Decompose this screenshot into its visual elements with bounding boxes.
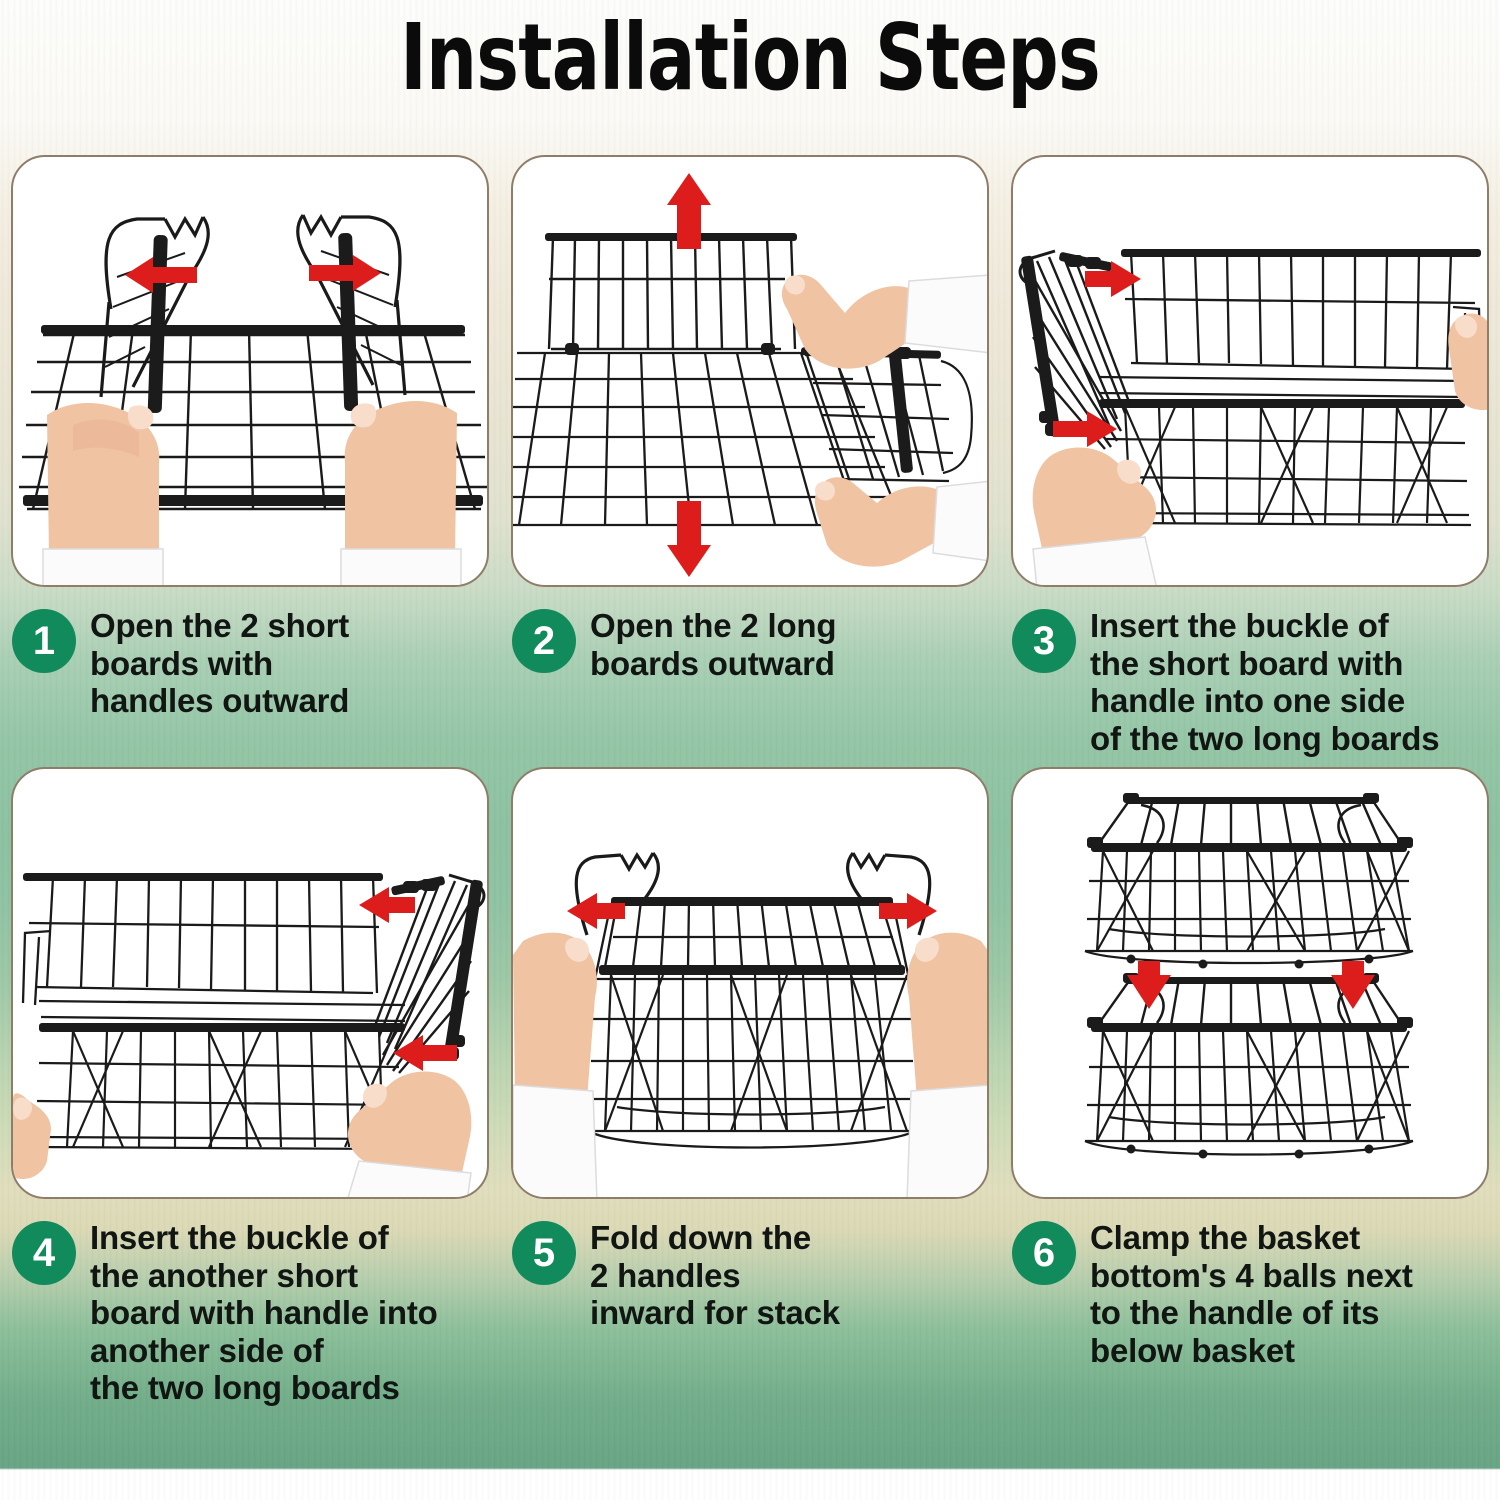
left-hand [513, 933, 597, 1199]
upper-right-hand [782, 275, 989, 369]
step-cell-3 [1000, 155, 1500, 587]
step-cell-1 [0, 155, 500, 587]
left-hand [43, 403, 163, 587]
page-title: Installation Steps [165, 6, 1335, 109]
step-2-text: Open the 2 long boards outward [590, 605, 836, 682]
step-2-caption: 2 Open the 2 long boards outward [500, 587, 1000, 767]
step-3-badge: 3 [1012, 609, 1076, 673]
lower-right-hand [347, 1071, 471, 1199]
installation-steps-poster: Installation Steps [0, 0, 1500, 1500]
captions-row-bottom: 4 Insert the buckle of the another short… [0, 1199, 1500, 1414]
step-4-badge: 4 [12, 1221, 76, 1285]
step-5-illustration [511, 767, 989, 1199]
right-hand [907, 933, 989, 1199]
caption-cell-5: 5 Fold down the 2 handles inward for sta… [500, 1199, 1000, 1414]
step-1-text: Open the 2 short boards with handles out… [90, 605, 349, 720]
step-cell-2 [500, 155, 1000, 587]
step-cell-6 [1000, 767, 1500, 1199]
step-6-text: Clamp the basket bottom's 4 balls next t… [1090, 1217, 1413, 1369]
panels-row-bottom [0, 767, 1500, 1199]
lower-left-hand [1033, 447, 1157, 587]
step-3-illustration [1011, 155, 1489, 587]
step-5-assembled-basket-drawing [513, 769, 989, 1199]
step-5-text: Fold down the 2 handles inward for stack [590, 1217, 840, 1332]
step-6-stacked-baskets-drawing [1013, 769, 1489, 1199]
right-hand [341, 401, 461, 587]
step-1-wire-basket-drawing [13, 157, 489, 587]
caption-cell-4: 4 Insert the buckle of the another short… [0, 1199, 500, 1414]
lower-right-hand [815, 477, 989, 566]
step-3-text: Insert the buckle of the short board wit… [1090, 605, 1439, 757]
upper-basket [1085, 793, 1413, 969]
step-4-text: Insert the buckle of the another short b… [90, 1217, 438, 1407]
step-6-badge: 6 [1012, 1221, 1076, 1285]
right-hand-fingers [1448, 314, 1489, 411]
left-hand-fingers [13, 1093, 51, 1179]
lower-basket [1085, 973, 1413, 1159]
steps-grid: 1 Open the 2 short boards with handles o… [0, 155, 1500, 1414]
arrow-down-icon [667, 501, 711, 577]
step-5-badge: 5 [512, 1221, 576, 1285]
step-cell-5 [500, 767, 1000, 1199]
step-2-wire-grid-drawing [513, 157, 989, 587]
step-1-illustration [11, 155, 489, 587]
caption-cell-2: 2 Open the 2 long boards outward [500, 587, 1000, 767]
step-4-wire-assembly-drawing [13, 769, 489, 1199]
caption-cell-3: 3 Insert the buckle of the short board w… [1000, 587, 1500, 767]
step-2-illustration [511, 155, 989, 587]
step-6-illustration [1011, 767, 1489, 1199]
caption-cell-6: 6 Clamp the basket bottom's 4 balls next… [1000, 1199, 1500, 1414]
step-4-illustration [11, 767, 489, 1199]
step-3-wire-assembly-drawing [1013, 157, 1489, 587]
captions-row-top: 1 Open the 2 short boards with handles o… [0, 587, 1500, 767]
caption-cell-1: 1 Open the 2 short boards with handles o… [0, 587, 500, 767]
step-5-caption: 5 Fold down the 2 handles inward for sta… [500, 1199, 1000, 1414]
step-3-caption: 3 Insert the buckle of the short board w… [1000, 587, 1500, 767]
step-6-caption: 6 Clamp the basket bottom's 4 balls next… [1000, 1199, 1500, 1414]
step-1-caption: 1 Open the 2 short boards with handles o… [0, 587, 500, 767]
step-cell-4 [0, 767, 500, 1199]
step-1-badge: 1 [12, 609, 76, 673]
panels-row-top [0, 155, 1500, 587]
step-4-caption: 4 Insert the buckle of the another short… [0, 1199, 500, 1414]
step-2-badge: 2 [512, 609, 576, 673]
